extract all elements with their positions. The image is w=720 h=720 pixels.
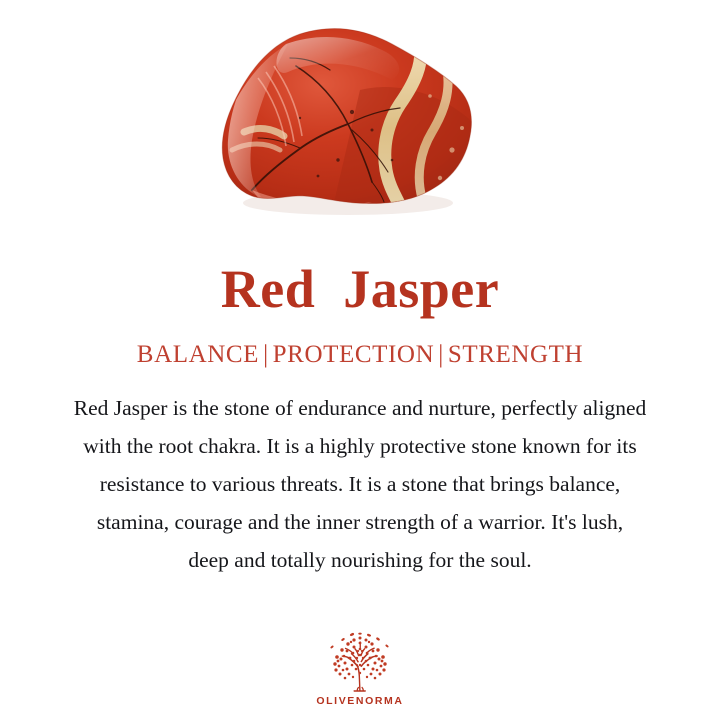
- falling-leaves: [330, 632, 389, 649]
- brand-logo: OLIVENORMA: [300, 632, 420, 707]
- stone-image-container: [0, 0, 720, 240]
- keyword-protection: PROTECTION: [273, 341, 435, 368]
- tree-canopy-leaves: [333, 636, 386, 679]
- brand-wordmark: OLIVENORMA: [316, 696, 403, 707]
- keyword-separator-2: |: [434, 341, 448, 368]
- description-paragraph: Red Jasper is the stone of endurance and…: [10, 389, 710, 579]
- page-title: Red Jasper: [221, 262, 499, 316]
- red-jasper-stone-image: [0, 0, 720, 240]
- description-line: stamina, courage and the inner strength …: [10, 503, 710, 541]
- description-line: deep and totally nourishing for the soul…: [10, 541, 710, 579]
- description-line: Red Jasper is the stone of endurance and…: [10, 389, 710, 427]
- keyword-separator-1: |: [259, 341, 273, 368]
- keyword-balance: BALANCE: [137, 341, 259, 368]
- keyword-line: BALANCE|PROTECTION|STRENGTH: [137, 342, 583, 367]
- keyword-strength: STRENGTH: [448, 341, 583, 368]
- stone-body: [210, 20, 490, 220]
- description-line: with the root chakra. It is a highly pro…: [10, 427, 710, 465]
- tree-of-life-icon: [323, 632, 397, 694]
- red-jasper-info-card: Red Jasper BALANCE|PROTECTION|STRENGTH R…: [0, 0, 720, 720]
- description-line: resistance to various threats. It is a s…: [10, 465, 710, 503]
